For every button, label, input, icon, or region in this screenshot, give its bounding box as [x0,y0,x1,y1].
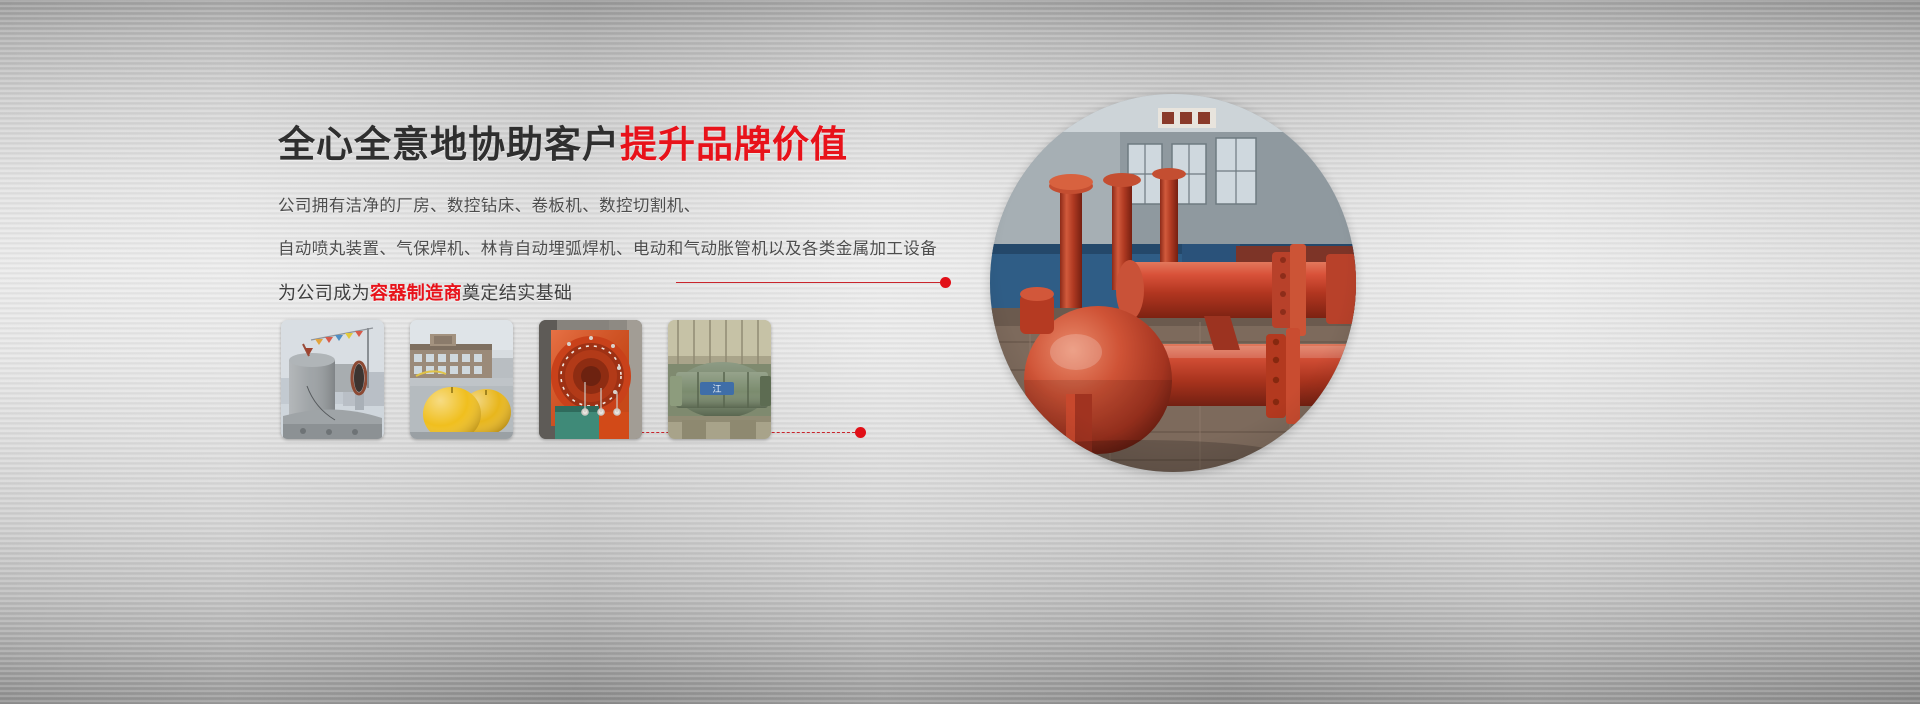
headline-plain: 全心全意地协助客户 [278,124,620,165]
headline-accent: 提升品牌价值 [620,124,848,165]
body-line-3-suffix: 奠定结实基础 [462,283,572,303]
body-line-2-text: 自动喷丸装置、气保焊机、林肯自动埋弧焊机、电动和气动胀管机以及各类金属加工设备 [278,240,937,258]
thumb-vessel-shell-image [281,320,384,439]
hero-pressure-vessel[interactable] [990,94,1356,472]
body-line-1: 公司拥有洁净的厂房、数控钻床、卷板机、数控切割机、 [278,193,998,219]
body-line-3-prefix: 为公司成为 [278,283,370,303]
thumb-green-mill[interactable]: 江 [668,320,771,439]
rule-dot-icon [855,427,866,438]
thumbnail-gallery: 江 [281,320,771,439]
thumb-yellow-tanks-image [410,320,513,439]
page-title: 全心全意地协助客户提升品牌价值 [278,124,998,167]
metal-banner: 全心全意地协助客户提升品牌价值 公司拥有洁净的厂房、数控钻床、卷板机、数控切割机… [0,0,1920,704]
svg-text:江: 江 [712,384,721,395]
thumb-yellow-tanks[interactable] [410,320,513,439]
body-line-3-highlight: 容器制造商 [370,283,462,303]
body-line-1-text: 公司拥有洁净的厂房、数控钻床、卷板机、数控切割机、 [278,197,701,215]
thumb-orange-machine[interactable] [539,320,642,439]
thumb-green-mill-image: 江 [668,320,771,439]
thumb-vessel-shell[interactable] [281,320,384,439]
hero-pressure-vessel-image [990,94,1356,472]
thumb-orange-machine-image [539,320,642,439]
banner-text-block: 全心全意地协助客户提升品牌价值 公司拥有洁净的厂房、数控钻床、卷板机、数控切割机… [278,124,998,325]
body-line-2: 自动喷丸装置、气保焊机、林肯自动埋弧焊机、电动和气动胀管机以及各类金属加工设备 [278,236,998,262]
body-line-3: 为公司成为容器制造商奠定结实基础 [278,279,998,308]
